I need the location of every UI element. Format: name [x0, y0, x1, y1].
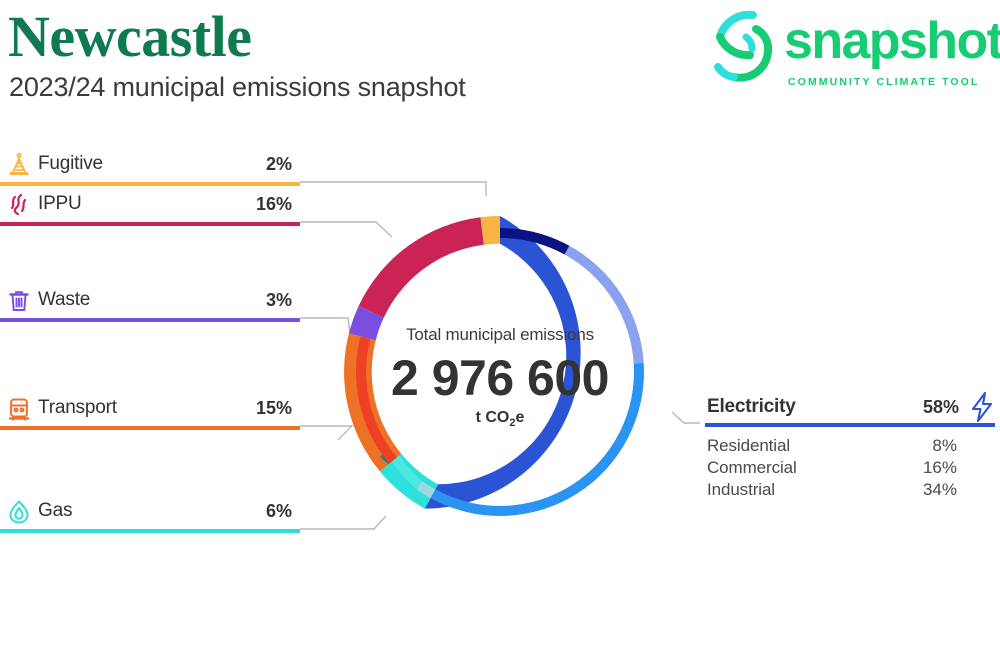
electricity-breakdown: Residential 8% Commercial 16% Industrial…: [705, 436, 995, 502]
legend-rule: [0, 222, 300, 226]
tram-icon: [6, 396, 32, 422]
total-value: 2 976 600: [360, 349, 640, 407]
unit-prefix: t CO: [476, 409, 510, 426]
breakdown-row-residential: Residential 8%: [705, 436, 995, 458]
electricity-percent: 58%: [923, 397, 959, 418]
electricity-header[interactable]: Electricity 58%: [705, 396, 995, 430]
total-unit: t CO2e: [360, 409, 640, 429]
breakdown-percent: 8%: [932, 436, 957, 456]
unit-suffix: e: [516, 409, 525, 426]
oil-derrick-icon: [6, 152, 32, 178]
lightning-bolt-icon: [969, 392, 995, 422]
legend-item-waste[interactable]: Waste 3%: [0, 288, 300, 328]
breakdown-name: Industrial: [707, 480, 775, 500]
donut-center-label: Total municipal emissions 2 976 600 t CO…: [360, 325, 640, 429]
page-subtitle: 2023/24 municipal emissions snapshot: [9, 72, 466, 103]
legend-rule: [0, 426, 300, 430]
legend-percent: 6%: [266, 501, 292, 522]
legend-label: Transport: [38, 397, 117, 419]
legend-item-fugitive[interactable]: Fugitive 2%: [0, 152, 300, 192]
legend-percent: 16%: [256, 194, 292, 215]
breakdown-name: Commercial: [707, 458, 797, 478]
logo-wordmark: snapshot: [784, 12, 1000, 70]
breakdown-row-industrial: Industrial 34%: [705, 480, 995, 502]
electricity-label: Electricity: [707, 396, 796, 418]
legend-rule: [0, 529, 300, 533]
electricity-panel[interactable]: Electricity 58% Residential 8% Commercia…: [705, 396, 995, 502]
donut-slice-fugitive: [481, 216, 501, 245]
legend-rule: [0, 318, 300, 322]
electricity-rule: [705, 423, 995, 427]
breakdown-percent: 34%: [923, 480, 957, 500]
legend-label: Gas: [38, 500, 72, 522]
flame-icon: [6, 499, 32, 525]
legend-percent: 15%: [256, 398, 292, 419]
infographic-canvas: Newcastle 2023/24 municipal emissions sn…: [0, 0, 1000, 670]
spiral-s-icon: [706, 7, 780, 85]
legend-label: Fugitive: [38, 153, 103, 175]
legend-rule: [0, 182, 300, 186]
legend-label: Waste: [38, 289, 90, 311]
legend-item-transport[interactable]: Transport 15%: [0, 396, 300, 436]
legend-item-gas[interactable]: Gas 6%: [0, 499, 300, 539]
legend-item-ippu[interactable]: IPPU 16%: [0, 192, 300, 232]
breakdown-percent: 16%: [923, 458, 957, 478]
brand-logo: snapshot COMMUNITY CLIMATE TOOL: [698, 6, 998, 90]
breakdown-row-commercial: Commercial 16%: [705, 458, 995, 480]
total-caption: Total municipal emissions: [360, 325, 640, 345]
trash-can-icon: [6, 288, 32, 314]
logo-tagline: COMMUNITY CLIMATE TOOL: [788, 76, 979, 88]
breakdown-name: Residential: [707, 436, 790, 456]
donut-slice-ippu: [359, 217, 484, 317]
legend-label: IPPU: [38, 193, 82, 215]
legend-percent: 3%: [266, 290, 292, 311]
page-title: Newcastle: [8, 6, 252, 68]
legend-percent: 2%: [266, 154, 292, 175]
smoke-wisp-icon: [6, 192, 32, 218]
